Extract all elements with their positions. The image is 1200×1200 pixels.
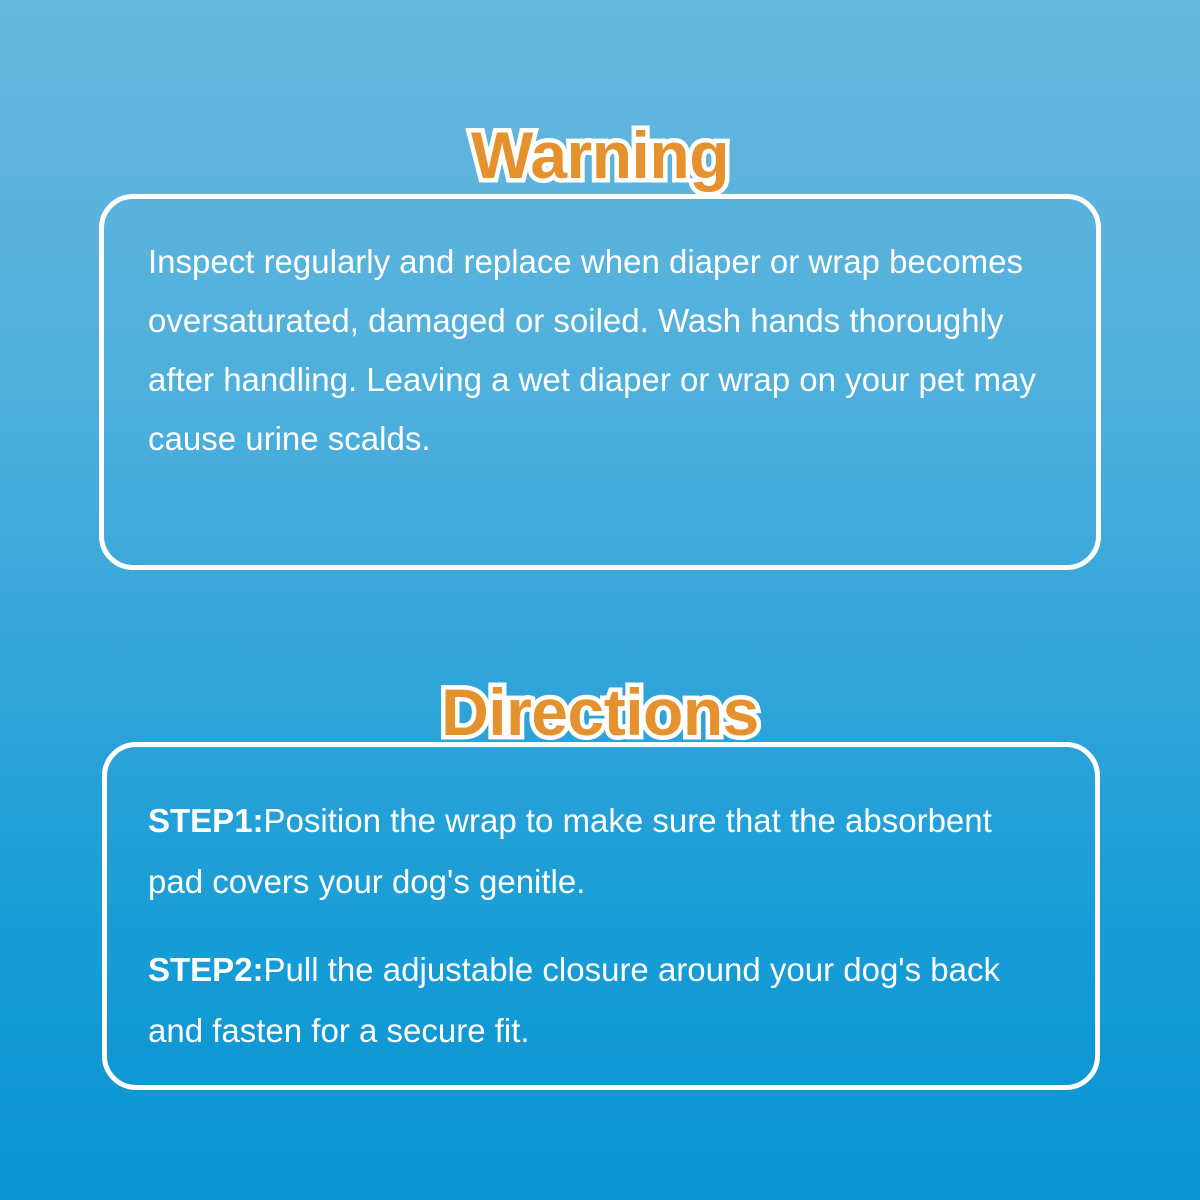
list-item: STEP1:Position the wrap to make sure tha…: [148, 790, 1048, 912]
warning-body-text: Inspect regularly and replace when diape…: [148, 232, 1073, 468]
step-text: Pull the adjustable closure around your …: [148, 951, 1000, 1049]
directions-section-title: Directions: [0, 679, 1200, 745]
list-item: STEP2:Pull the adjustable closure around…: [148, 939, 1048, 1061]
step-label: STEP2:: [148, 951, 264, 988]
step-text: Position the wrap to make sure that the …: [148, 802, 992, 900]
step-label: STEP1:: [148, 802, 264, 839]
directions-body-text: STEP1:Position the wrap to make sure tha…: [148, 790, 1048, 1061]
infographic-page: Warning Inspect regularly and replace wh…: [0, 0, 1200, 1200]
warning-section-title: Warning: [0, 122, 1200, 188]
